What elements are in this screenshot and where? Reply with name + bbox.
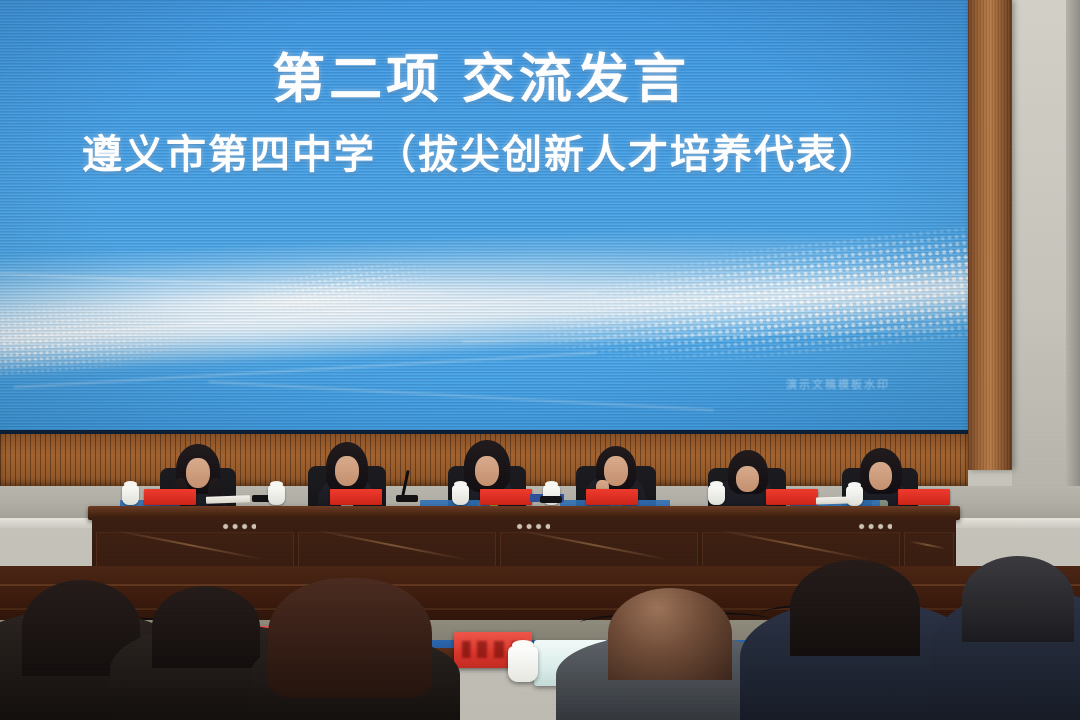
table-decorative-bosses — [218, 523, 256, 530]
slide-title: 第二项 交流发言 — [0, 50, 968, 109]
audience-head-bald — [608, 588, 732, 680]
head-table-nameplate — [480, 489, 532, 505]
head-table-nameplate — [766, 489, 818, 505]
teacup — [452, 485, 469, 505]
right-wall-corner — [1066, 0, 1080, 492]
slide-watermark: 演示文稿模板水印 — [786, 376, 890, 392]
wood-frame-column-right — [968, 0, 1012, 470]
head-table-nameplate — [330, 489, 382, 505]
conference-room-photo: 第二项 交流发言 遵义市第四中学（拔尖创新人才培养代表） 演示文稿模板水印 — [0, 0, 1080, 720]
head-table-nameplate — [586, 489, 638, 505]
table-decorative-bosses — [854, 523, 892, 530]
teacup — [708, 485, 725, 505]
slide-text-block: 第二项 交流发言 遵义市第四中学（拔尖创新人才培养代表） — [0, 0, 968, 179]
teacup-large — [508, 646, 538, 682]
table-decorative-bosses — [512, 523, 550, 530]
head-table-nameplate — [144, 489, 196, 505]
slide-subtitle: 遵义市第四中学（拔尖创新人才培养代表） — [0, 131, 968, 179]
audience-head — [152, 586, 260, 668]
audience-head — [962, 556, 1074, 642]
audience-head — [790, 560, 920, 656]
led-display-screen: 第二项 交流发言 遵义市第四中学（拔尖创新人才培养代表） 演示文稿模板水印 — [0, 0, 968, 430]
teacup — [122, 485, 139, 505]
head-table-nameplate — [898, 489, 950, 505]
teacup — [268, 485, 285, 505]
audience-head — [268, 578, 432, 698]
